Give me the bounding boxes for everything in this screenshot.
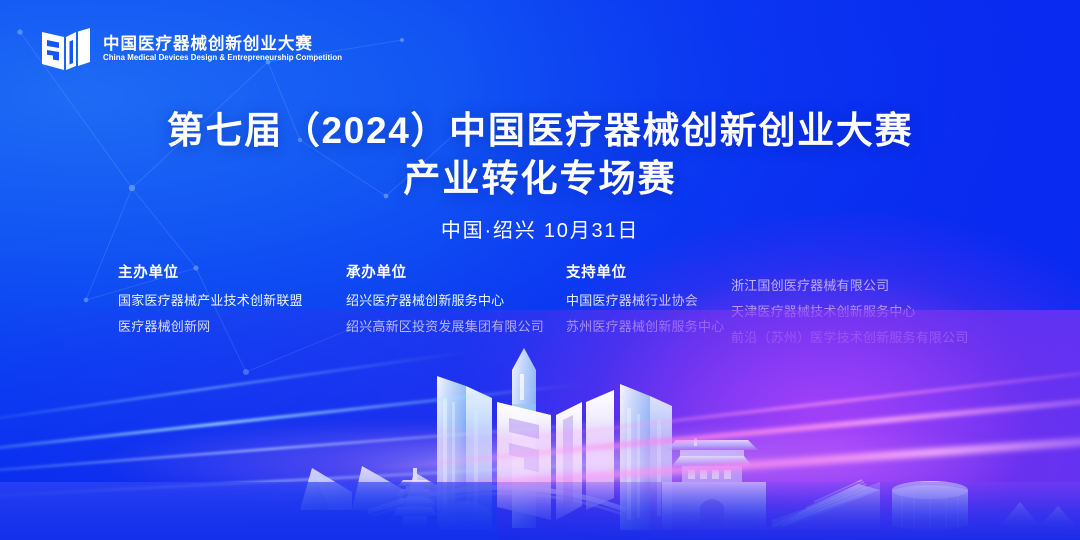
event-location-date: 中国·绍兴 10月31日 xyxy=(0,219,1080,243)
organizer-item: 医疗器械创新网 xyxy=(118,320,346,333)
magenta-streak xyxy=(369,387,1080,471)
page-title-line2: 产业转化专场赛 xyxy=(0,156,1080,201)
logo-chinese-name: 中国医疗器械创新创业大赛 xyxy=(103,36,352,53)
open-book-door-logo-icon xyxy=(40,26,92,72)
terraced-building-icon xyxy=(762,480,880,530)
rocket-tower-icon xyxy=(512,348,536,528)
organizer-column-host: 主办单位 国家医疗器械产业技术创新联盟 医疗器械创新网 xyxy=(118,266,346,357)
foreground-floor-left xyxy=(0,482,497,540)
organizer-heading: 承办单位 xyxy=(346,266,566,281)
organizer-sections: 主办单位 国家医疗器械产业技术创新联盟 医疗器械创新网 承办单位 绍兴医疗器械创… xyxy=(118,266,998,357)
horizon-glow-decoration xyxy=(0,428,1080,498)
event-banner: 中国医疗器械创新创业大赛 China Medical Devices Desig… xyxy=(0,0,1080,540)
city-gate-tower-icon xyxy=(662,438,766,530)
twin-tower-icon xyxy=(437,376,492,530)
organizer-item: 天津医疗器械技术创新服务中心 xyxy=(731,305,998,318)
magenta-streak xyxy=(477,360,1080,445)
organizer-item: 绍兴医疗器械创新服务中心 xyxy=(346,294,566,307)
organizer-item: 中国医疗器械行业协会 xyxy=(566,294,731,307)
organizer-heading: 主办单位 xyxy=(118,266,346,281)
cyan-streak xyxy=(0,419,647,479)
organizer-heading: 支持单位 xyxy=(566,266,731,281)
organizer-column-undertaker: 承办单位 绍兴医疗器械创新服务中心 绍兴高新区投资发展集团有限公司 xyxy=(346,266,566,357)
pagoda-icon xyxy=(392,468,438,526)
far-right-buildings-icon xyxy=(1000,502,1076,526)
organizer-item: 国家医疗器械产业技术创新联盟 xyxy=(118,294,346,307)
arch-bridge-icon xyxy=(368,487,626,516)
glass-tower-icon xyxy=(620,384,672,530)
foreground-floor xyxy=(0,482,1080,540)
organizer-item: 前沿（苏州）医学技术创新服务有限公司 xyxy=(731,331,998,344)
logo-text-block: 中国医疗器械创新创业大赛 China Medical Devices Desig… xyxy=(103,36,352,63)
cyan-streak xyxy=(0,383,581,458)
cyan-streak xyxy=(0,350,473,427)
cylinder-arena-icon xyxy=(892,481,968,531)
organizer-column-supporter-extra: 浙江国创医疗器械有限公司 天津医疗器械技术创新服务中心 前沿（苏州）医学技术创新… xyxy=(731,266,998,357)
organizer-column-supporter: 支持单位 中国医疗器械行业协会 苏州医疗器械创新服务中心 xyxy=(566,266,731,357)
page-title-line1: 第七届（2024）中国医疗器械创新创业大赛 xyxy=(0,108,1080,153)
cyan-streak xyxy=(0,459,691,504)
organizer-item: 浙江国创医疗器械有限公司 xyxy=(731,279,998,292)
title-block: 第七届（2024）中国医疗器械创新创业大赛 产业转化专场赛 中国·绍兴 10月3… xyxy=(0,108,1080,243)
magenta-streak xyxy=(303,428,1080,501)
city-skyline-illustration xyxy=(0,340,1080,540)
competition-logo: 中国医疗器械创新创业大赛 China Medical Devices Desig… xyxy=(40,26,352,72)
organizer-item: 苏州医疗器械创新服务中心 xyxy=(566,320,731,333)
logo-english-name: China Medical Devices Design & Entrepren… xyxy=(103,54,342,62)
organizer-item: 绍兴高新区投资发展集团有限公司 xyxy=(346,320,566,333)
competition-logo-monument-icon xyxy=(494,390,614,520)
sail-pavilion-icon xyxy=(300,466,452,510)
